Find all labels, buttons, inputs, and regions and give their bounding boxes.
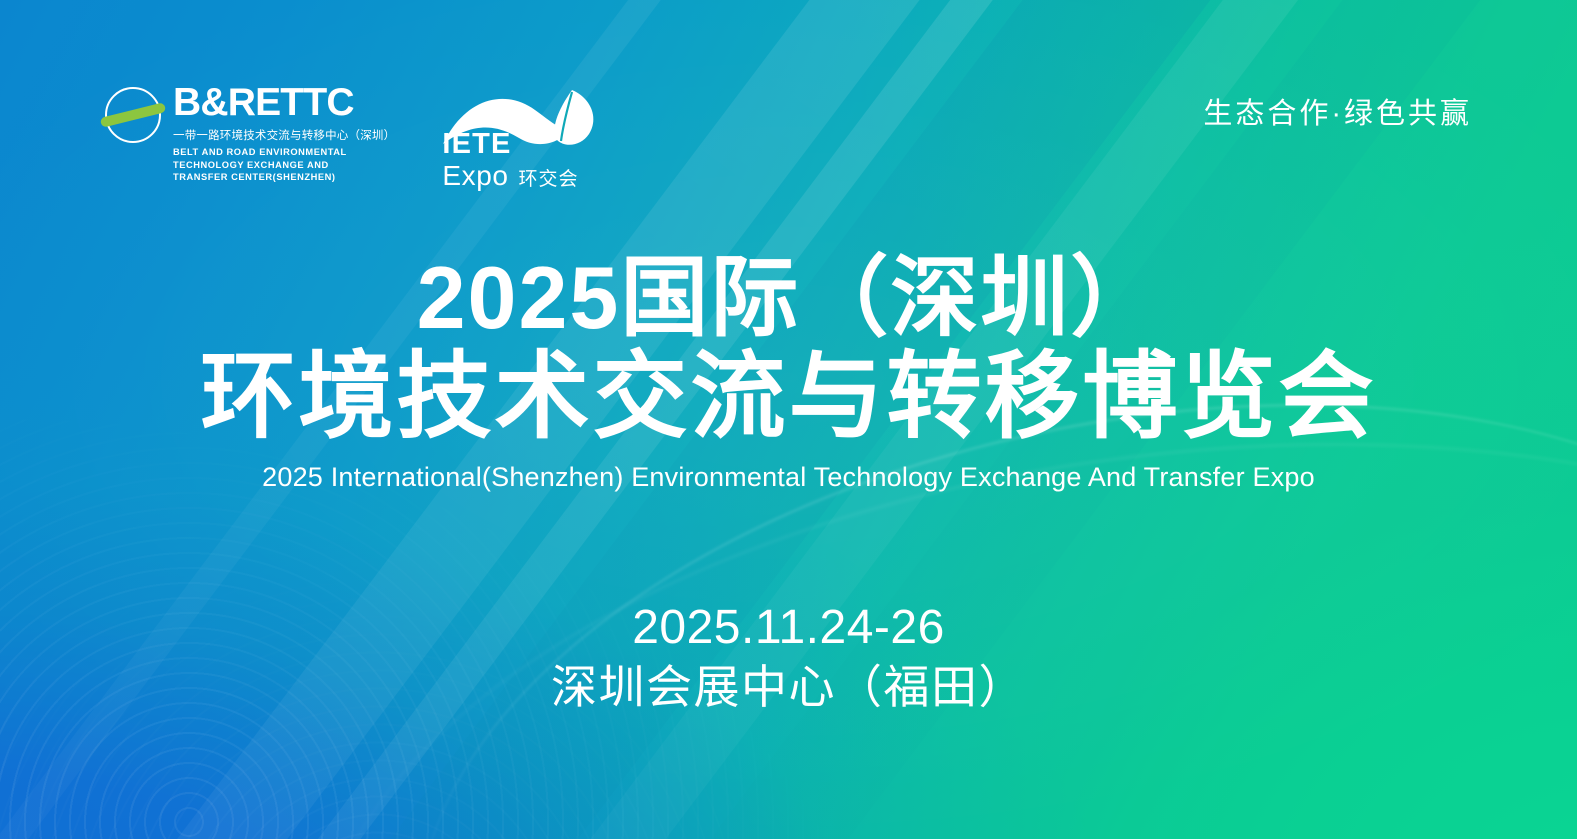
logo-group: B&RETTC 一带一路环境技术交流与转移中心（深圳） BELT AND ROA…: [105, 84, 605, 190]
brettc-logo[interactable]: B&RETTC 一带一路环境技术交流与转移中心（深圳） BELT AND ROA…: [105, 84, 395, 183]
iete-text-block: IETE Expo 环交会: [442, 130, 578, 190]
event-banner: B&RETTC 一带一路环境技术交流与转移中心（深圳） BELT AND ROA…: [0, 0, 1577, 839]
event-venue: 深圳会展中心（福田）: [0, 661, 1577, 714]
iete-abbr: IETE: [442, 130, 578, 159]
brettc-name-cn: 一带一路环境技术交流与转移中心（深圳）: [173, 127, 395, 143]
title-en: 2025 International(Shenzhen) Environment…: [0, 461, 1577, 493]
event-meta-block: 2025.11.24-26 深圳会展中心（福田）: [0, 601, 1577, 714]
iete-word-cn: 环交会: [519, 170, 579, 189]
iete-word-row: Expo 环交会: [442, 162, 578, 190]
brettc-name-en: BELT AND ROAD ENVIRONMENTAL TECHNOLOGY E…: [173, 146, 385, 183]
iete-expo-logo[interactable]: IETE Expo 环交会: [439, 84, 605, 190]
event-date: 2025.11.24-26: [0, 601, 1577, 655]
title-cn-line-2: 环境技术交流与转移博览会: [0, 348, 1577, 448]
main-title-block: 2025国际（深圳） 环境技术交流与转移博览会 2025 Internation…: [0, 252, 1577, 494]
title-cn-line-1: 2025国际（深圳）: [0, 252, 1577, 344]
banner-content: B&RETTC 一带一路环境技术交流与转移中心（深圳） BELT AND ROA…: [0, 0, 1577, 839]
header-slogan: 生态合作·绿色共赢: [1203, 100, 1472, 129]
brettc-text-block: B&RETTC 一带一路环境技术交流与转移中心（深圳） BELT AND ROA…: [173, 84, 395, 183]
iete-expo-word: Expo: [442, 162, 508, 190]
circle-band-emblem-icon: [105, 87, 161, 143]
banner-header: B&RETTC 一带一路环境技术交流与转移中心（深圳） BELT AND ROA…: [0, 84, 1577, 200]
brettc-wordmark: B&RETTC: [173, 84, 395, 121]
